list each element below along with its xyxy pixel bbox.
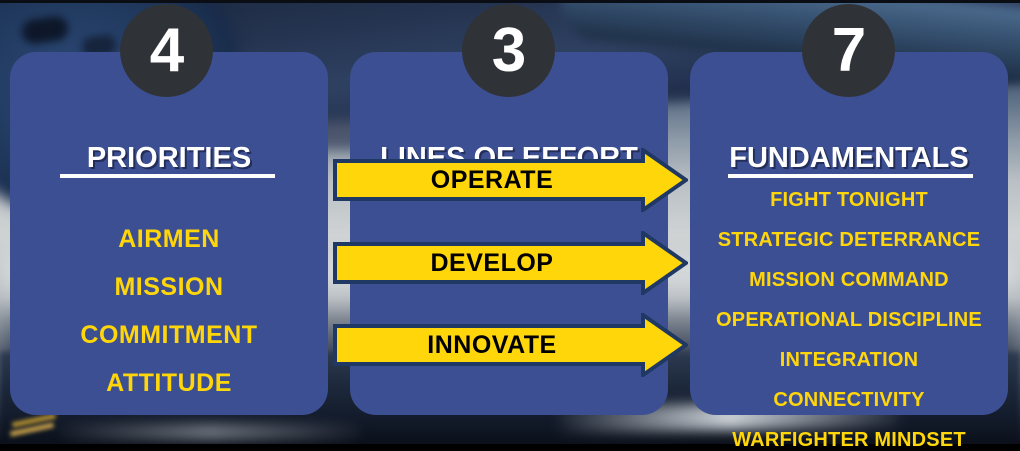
priorities-list: AIRMEN MISSION COMMITMENT ATTITUDE [10,215,328,407]
panel-title-fundamentals: FUNDAMENTALS [690,142,1008,175]
title-underline-fundamentals [728,174,973,178]
arrow-shape-icon [333,231,688,295]
list-item: FIGHT TONIGHT [690,180,1008,220]
list-item: MISSION COMMAND [690,260,1008,300]
panel-priorities[interactable]: PRIORITIES AIRMEN MISSION COMMITMENT ATT… [10,52,328,415]
arrow-operate[interactable]: OPERATE [333,148,688,212]
background-top-edge [0,0,1020,3]
list-item: WARFIGHTER MINDSET [690,420,1008,451]
arrow-develop[interactable]: DEVELOP [333,231,688,295]
list-item: CONNECTIVITY [690,380,1008,420]
list-item: OPERATIONAL DISCIPLINE [690,300,1008,340]
list-item: COMMITMENT [10,311,328,359]
arrow-shape-icon [333,313,688,377]
arrow-shape-icon [333,148,688,212]
badge-count-4: 4 [120,4,213,97]
list-item: AIRMEN [10,215,328,263]
badge-count-7: 7 [802,4,895,97]
panel-title-priorities: PRIORITIES [10,142,328,175]
list-item: INTEGRATION [690,340,1008,380]
list-item: MISSION [10,263,328,311]
panel-fundamentals[interactable]: FUNDAMENTALS FIGHT TONIGHT STRATEGIC DET… [690,52,1008,415]
background-apron-glare [60,424,360,440]
badge-count-3: 3 [462,4,555,97]
list-item: STRATEGIC DETERRANCE [690,220,1008,260]
fundamentals-list: FIGHT TONIGHT STRATEGIC DETERRANCE MISSI… [690,180,1008,451]
arrow-innovate[interactable]: INNOVATE [333,313,688,377]
slide-canvas: PRIORITIES AIRMEN MISSION COMMITMENT ATT… [0,0,1020,451]
title-underline-priorities [60,174,275,178]
list-item: ATTITUDE [10,359,328,407]
